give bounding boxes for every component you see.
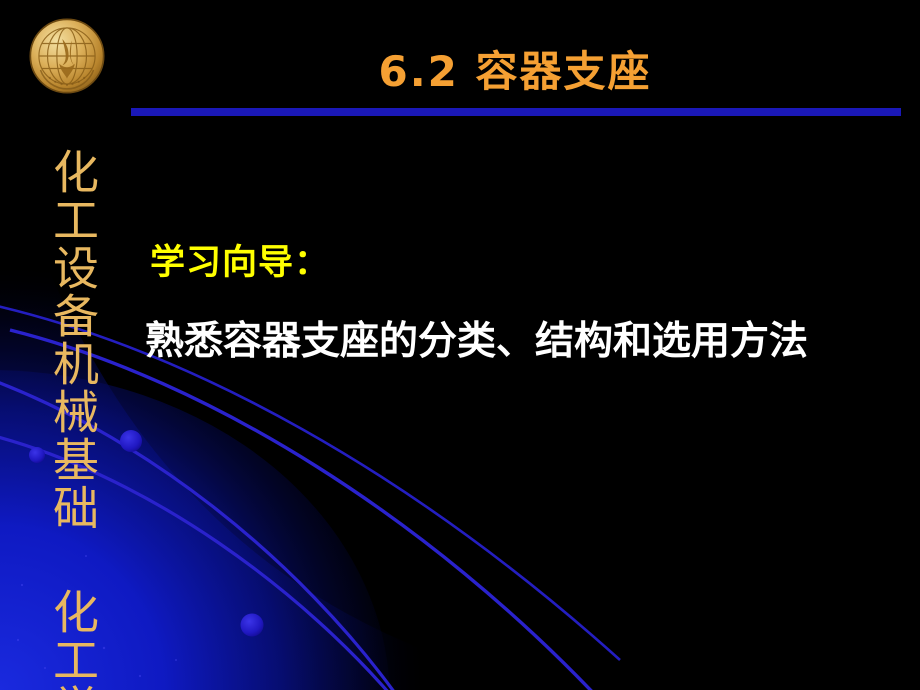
decor-dot <box>120 430 142 452</box>
slide-canvas: 6.2 容器支座 学习向导： 熟悉容器支座的分类、结构和选用方法 化工设备机械基… <box>0 0 920 690</box>
university-emblem-logo <box>28 17 106 95</box>
decor-dot <box>241 614 264 637</box>
vertical-course-caption: 化工设备机械基础 化工学院 <box>38 148 96 690</box>
study-guide-label: 学习向导： <box>150 234 330 285</box>
page-title: 6.2 容器支座 <box>130 38 900 99</box>
title-underline-rule <box>131 108 901 116</box>
study-guide-text: 熟悉容器支座的分类、结构和选用方法 <box>145 310 808 366</box>
